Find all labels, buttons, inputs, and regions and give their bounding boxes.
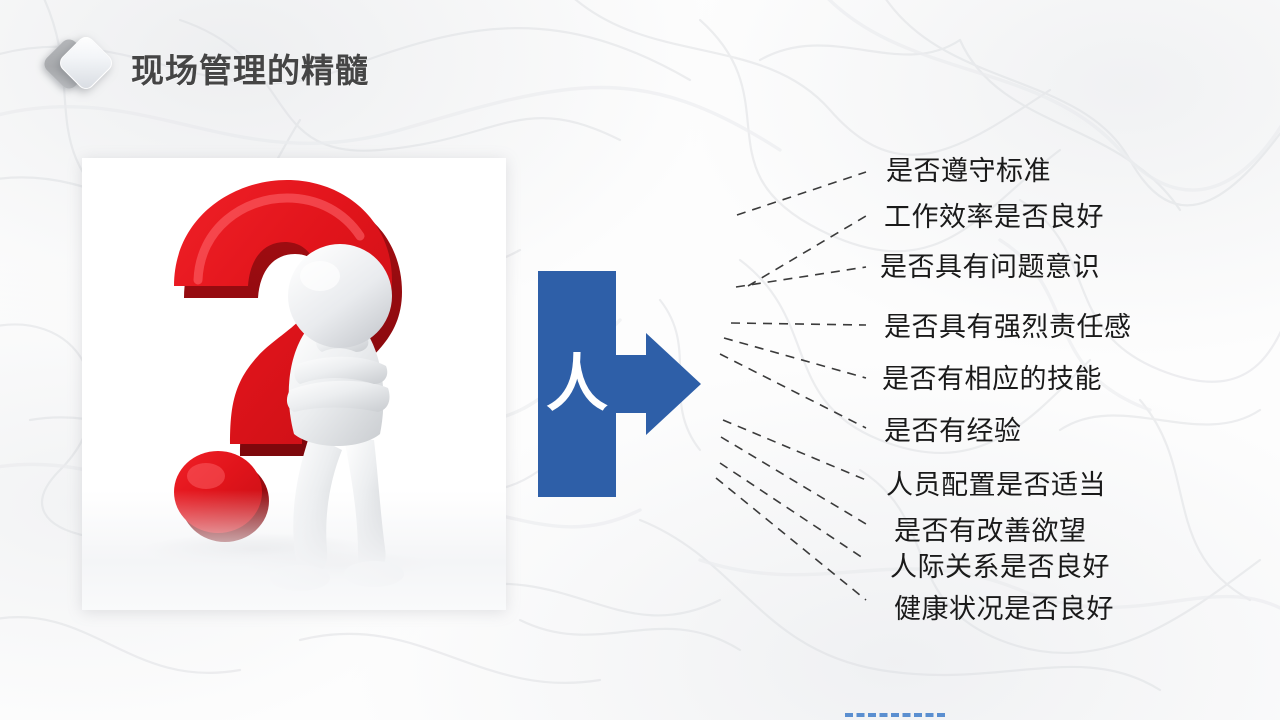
checklist-item-8[interactable]: 是否有改善欲望	[894, 518, 1087, 545]
blue-dashed-accent	[845, 713, 945, 720]
checklist-item-10[interactable]: 健康状况是否良好	[894, 596, 1114, 623]
checklist-item-3[interactable]: 是否具有问题意识	[880, 254, 1100, 281]
checklist-item-5[interactable]: 是否有相应的技能	[882, 366, 1102, 393]
checklist-item-4[interactable]: 是否具有强烈责任感	[884, 314, 1132, 341]
checklist-item-2[interactable]: 工作效率是否良好	[884, 204, 1104, 231]
checklist-item-7[interactable]: 人员配置是否适当	[886, 472, 1106, 499]
checklist-item-6[interactable]: 是否有经验	[884, 418, 1022, 445]
slide-canvas: 现场管理的精髓	[0, 0, 1280, 720]
checklist-item-1[interactable]: 是否遵守标准	[886, 158, 1051, 185]
checklist-item-9[interactable]: 人际关系是否良好	[890, 554, 1110, 581]
checklist-items: 是否遵守标准工作效率是否良好是否具有问题意识是否具有强烈责任感是否有相应的技能是…	[0, 0, 1280, 720]
